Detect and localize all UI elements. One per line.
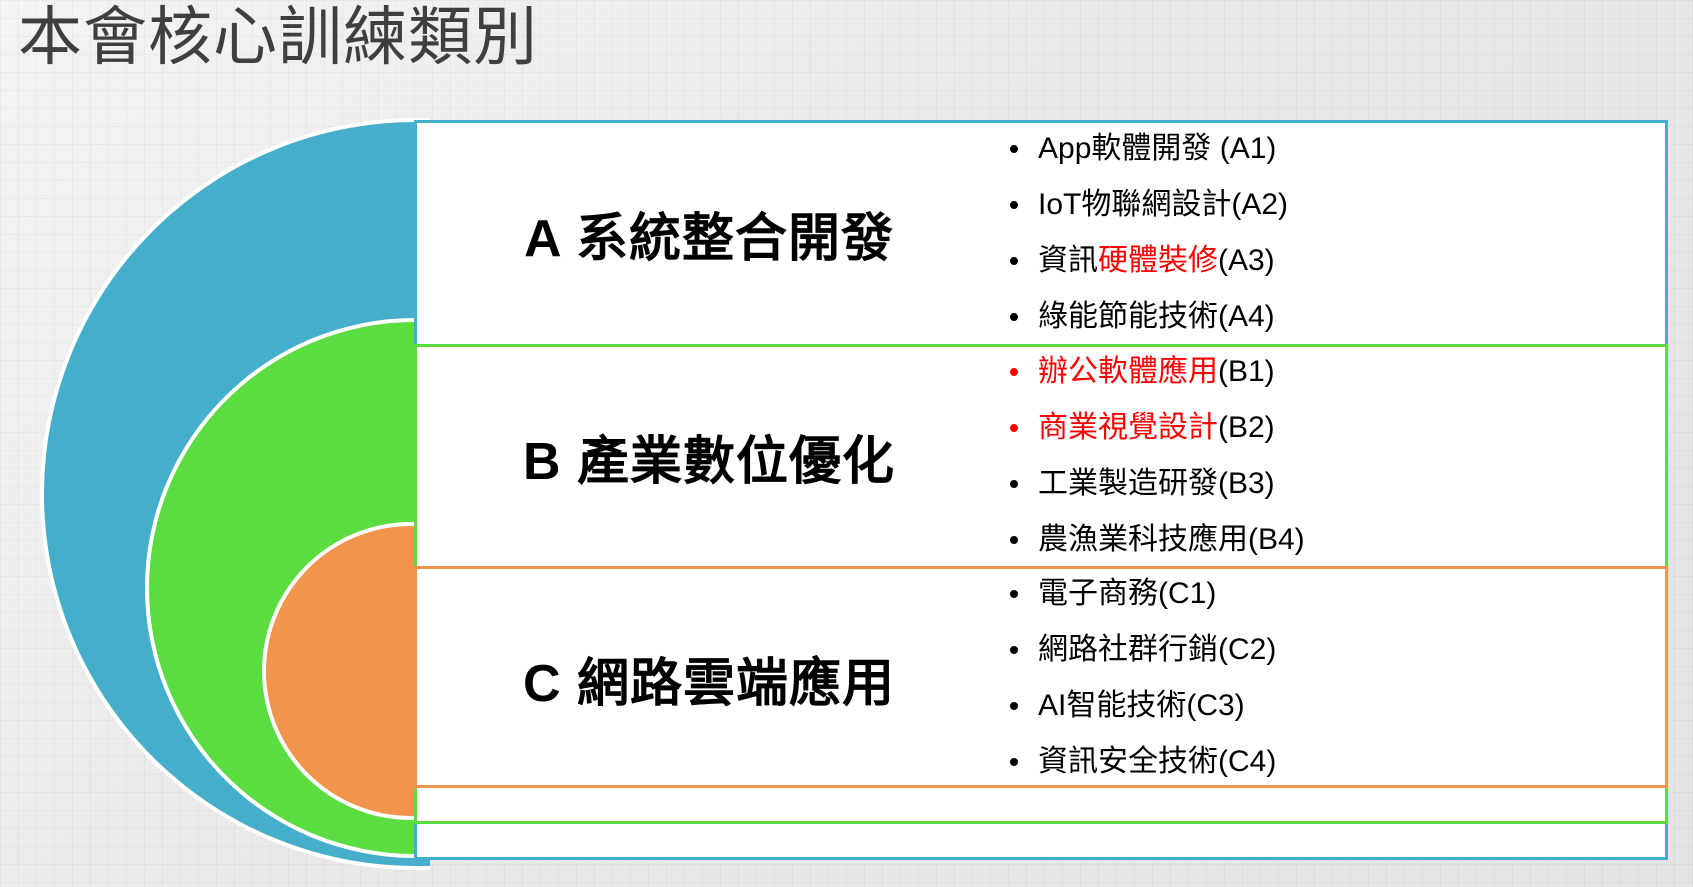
item-text: 綠能節能技術(A4) <box>1038 300 1275 333</box>
bullet-dot-icon <box>1010 313 1018 321</box>
list-item: 辦公軟體應用(B1) <box>1004 357 1664 387</box>
category-label-a: A 系統整合開發 <box>418 196 988 271</box>
category-row-c: C 網路雲端應用 電子商務(C1) 網路社群行銷(C2) AI智能技術(C3) … <box>418 570 1664 786</box>
list-item: 農漁業科技應用(B4) <box>1004 525 1664 555</box>
category-label-b: B 產業數位優化 <box>418 419 988 494</box>
bullet-dot-icon <box>1010 145 1018 153</box>
list-item: IoT物聯網設計(A2) <box>1004 190 1664 220</box>
list-item: App軟體開發 (A1) <box>1004 134 1664 164</box>
bullet-dot-icon <box>1010 257 1018 265</box>
list-item: 綠能節能技術(A4) <box>1004 302 1664 332</box>
item-text: AI智能技術(C3) <box>1038 689 1245 722</box>
bullet-dot-icon <box>1010 590 1018 598</box>
bullet-dot-icon <box>1010 702 1018 710</box>
list-item: 商業視覺設計(B2) <box>1004 413 1664 443</box>
list-item: 工業製造研發(B3) <box>1004 469 1664 499</box>
item-suffix: (B2) <box>1218 411 1275 444</box>
bullet-dot-icon <box>1010 201 1018 209</box>
item-text: 電子商務(C1) <box>1038 577 1216 610</box>
bullet-dot-icon <box>1010 368 1018 376</box>
category-label-c: C 網路雲端應用 <box>418 641 988 716</box>
item-text: App軟體開發 (A1) <box>1038 132 1276 165</box>
item-text: IoT物聯網設計(A2) <box>1038 188 1288 221</box>
list-item: 網路社群行銷(C2) <box>1004 635 1664 665</box>
item-text: 網路社群行銷(C2) <box>1038 633 1276 666</box>
bullet-list-b: 辦公軟體應用(B1) 商業視覺設計(B2) 工業製造研發(B3) 農漁業科技應用… <box>988 357 1664 555</box>
item-text: 資訊 <box>1038 244 1098 277</box>
item-suffix: (A3) <box>1218 244 1275 277</box>
bullet-dot-icon <box>1010 424 1018 432</box>
bullet-dot-icon <box>1010 480 1018 488</box>
list-item: AI智能技術(C3) <box>1004 691 1664 721</box>
list-item: 資訊安全技術(C4) <box>1004 747 1664 777</box>
item-text: 工業製造研發(B3) <box>1038 467 1275 500</box>
category-row-b: B 產業數位優化 辦公軟體應用(B1) 商業視覺設計(B2) 工業製造研發(B3… <box>418 348 1664 564</box>
item-text: 資訊安全技術(C4) <box>1038 745 1276 778</box>
item-text: 農漁業科技應用(B4) <box>1038 523 1305 556</box>
item-suffix: (B1) <box>1218 355 1275 388</box>
bullet-list-a: App軟體開發 (A1) IoT物聯網設計(A2) 資訊硬體裝修(A3) 綠能節… <box>988 134 1664 332</box>
bullet-dot-icon <box>1010 646 1018 654</box>
bullet-dot-icon <box>1010 536 1018 544</box>
list-item: 資訊硬體裝修(A3) <box>1004 246 1664 276</box>
page-title: 本會核心訓練類別 <box>18 2 538 72</box>
bullet-list-c: 電子商務(C1) 網路社群行銷(C2) AI智能技術(C3) 資訊安全技術(C4… <box>988 579 1664 777</box>
item-highlight: 硬體裝修 <box>1098 244 1218 277</box>
category-row-a: A 系統整合開發 App軟體開發 (A1) IoT物聯網設計(A2) 資訊硬體裝… <box>418 124 1664 342</box>
list-item: 電子商務(C1) <box>1004 579 1664 609</box>
item-highlight: 辦公軟體應用 <box>1038 355 1218 388</box>
item-highlight: 商業視覺設計 <box>1038 411 1218 444</box>
bullet-dot-icon <box>1010 758 1018 766</box>
